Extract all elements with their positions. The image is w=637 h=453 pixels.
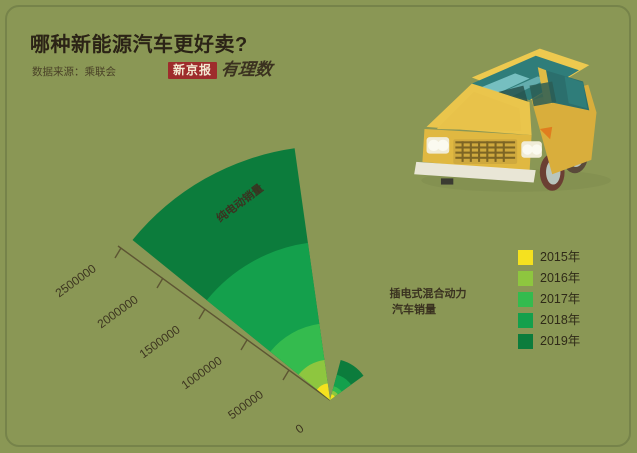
axis-tick-label-2000000: 2000000: [95, 292, 141, 331]
legend: 2015年 2016年 2017年 2018年 2019年: [518, 250, 580, 355]
legend-label-2015: 2015年: [540, 251, 580, 264]
legend-swatch-2017: [518, 292, 533, 307]
legend-label-2019: 2019年: [540, 335, 580, 348]
fan-phev: 插电式混合动力 汽车销量: [330, 286, 467, 400]
legend-item[interactable]: 2016年: [518, 271, 580, 286]
fan-bev: 纯电动销量: [133, 148, 331, 400]
fan-phev-label-line1: 插电式混合动力: [390, 286, 467, 300]
axis-tick-label-1000000: 1000000: [179, 353, 225, 392]
polar-fan-chart: 0 500000 1000000 1500000 2000000 2500000…: [0, 0, 637, 453]
axis-tick-label-0: 0: [293, 421, 307, 436]
legend-swatch-2016: [518, 271, 533, 286]
legend-swatch-2019: [518, 334, 533, 349]
legend-label-2018: 2018年: [540, 314, 580, 327]
legend-item[interactable]: 2017年: [518, 292, 580, 307]
fan-phev-label-line2: 汽车销量: [392, 302, 436, 316]
legend-swatch-2015: [518, 250, 533, 265]
legend-item[interactable]: 2019年: [518, 334, 580, 349]
legend-label-2016: 2016年: [540, 272, 580, 285]
legend-swatch-2018: [518, 313, 533, 328]
axis-tick-label-1500000: 1500000: [137, 322, 183, 361]
legend-item[interactable]: 2018年: [518, 313, 580, 328]
legend-item[interactable]: 2015年: [518, 250, 580, 265]
legend-label-2017: 2017年: [540, 293, 580, 306]
axis-tick-label-2500000: 2500000: [53, 261, 99, 300]
axis-tick-label-500000: 500000: [225, 387, 266, 422]
